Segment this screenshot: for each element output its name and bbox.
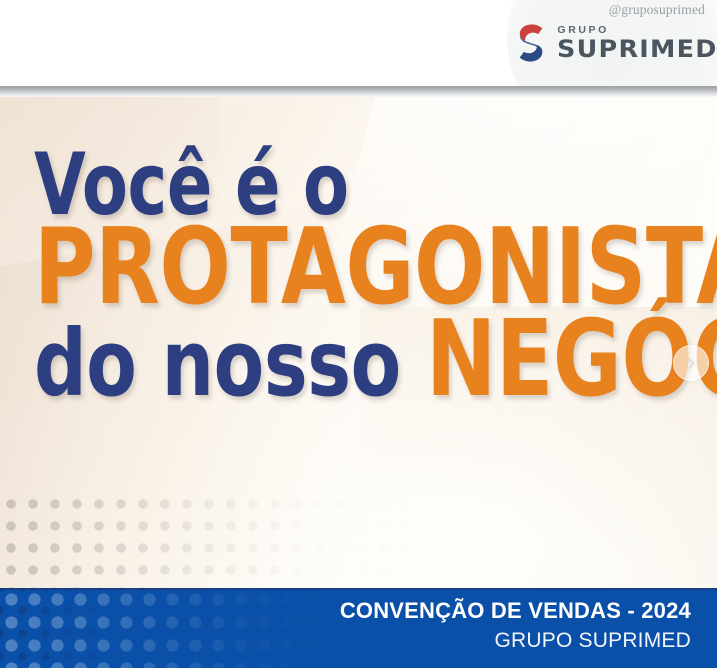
banner-subtitle: GRUPO SUPRIMED bbox=[340, 627, 691, 654]
suprimed-s-swirl-logo-icon bbox=[511, 22, 551, 64]
wordmark-suprimed: SUPRIMED bbox=[557, 37, 717, 61]
banner-title: CONVENÇÃO DE VENDAS - 2024 bbox=[340, 597, 691, 625]
headline-line-3-blue: do nosso bbox=[34, 310, 426, 417]
banner-text-block: CONVENÇÃO DE VENDAS - 2024 GRUPO SUPRIME… bbox=[340, 597, 691, 654]
halftone-dots-banner-dark bbox=[0, 588, 120, 668]
carousel-next-button[interactable] bbox=[673, 345, 709, 381]
brand-logo: GRUPO SUPRIMED bbox=[511, 22, 709, 64]
post-header: @gruposuprimed GRUPO SUPRIMED bbox=[0, 0, 717, 86]
headline-block: Você é o PROTAGONISTA do nosso NEGÓCIO bbox=[34, 143, 710, 410]
slide-image[interactable]: Você é o PROTAGONISTA do nosso NEGÓCIO bbox=[0, 97, 717, 668]
instagram-post-carousel-slide: @gruposuprimed GRUPO SUPRIMED Você é o bbox=[0, 0, 717, 668]
account-handle[interactable]: @gruposuprimed bbox=[609, 2, 705, 18]
headline-line-3: do nosso NEGÓCIO bbox=[34, 310, 575, 410]
header-divider bbox=[0, 86, 717, 97]
bottom-banner: CONVENÇÃO DE VENDAS - 2024 GRUPO SUPRIME… bbox=[0, 588, 717, 668]
brand-wordmark: GRUPO SUPRIMED bbox=[557, 25, 709, 61]
chevron-right-icon bbox=[685, 357, 698, 370]
